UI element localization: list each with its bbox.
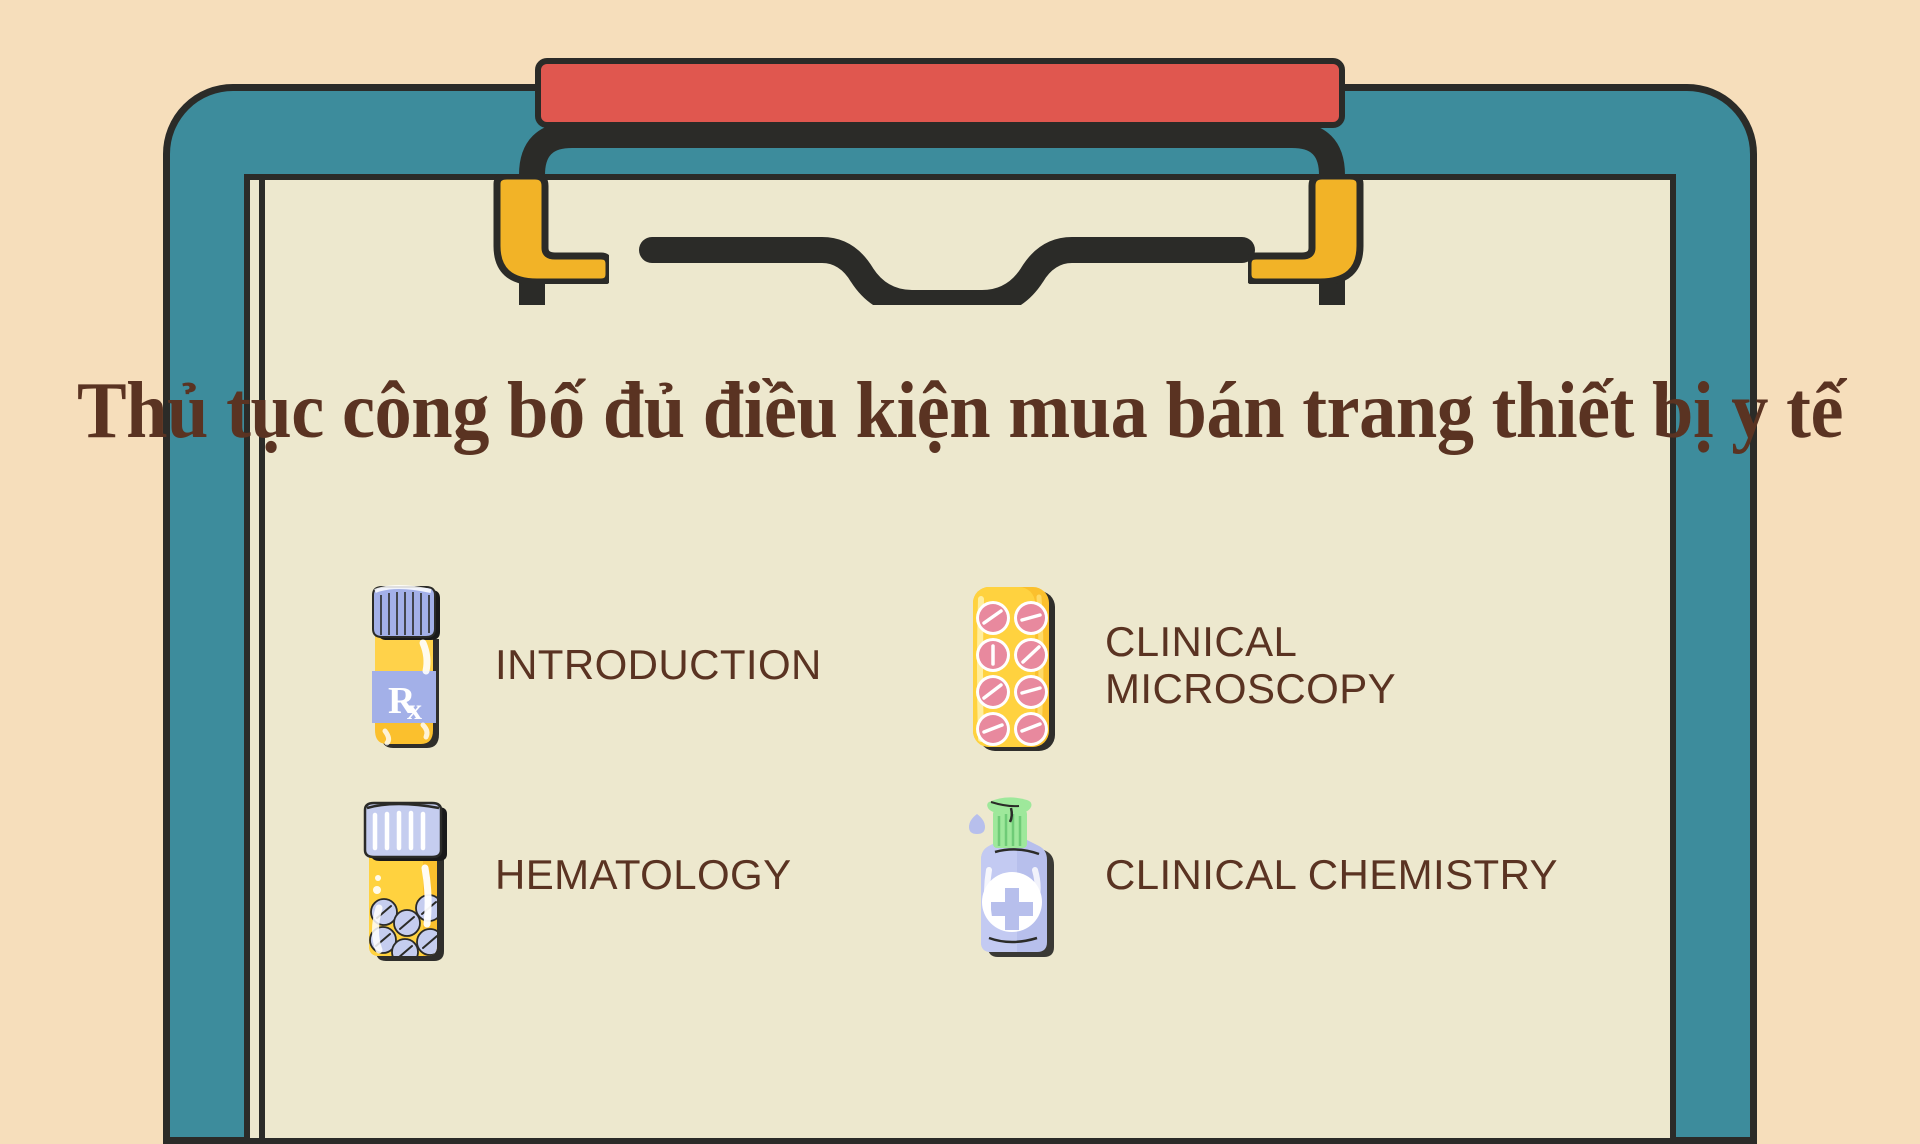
svg-text:x: x bbox=[407, 693, 422, 726]
clip-top-bar bbox=[535, 58, 1345, 128]
clip-bracket-left-icon bbox=[489, 174, 609, 284]
menu-item-introduction[interactable]: R x INTRODUCTION bbox=[345, 560, 955, 770]
hand-sanitizer-bottle-icon bbox=[955, 790, 1073, 960]
clip-bracket-right-icon bbox=[1248, 174, 1368, 284]
pill-bottle-icon bbox=[345, 790, 463, 960]
menu-item-label: CLINICAL CHEMISTRY bbox=[1105, 851, 1558, 898]
menu-item-label: INTRODUCTION bbox=[495, 641, 822, 688]
menu-list: R x INTRODUCTION bbox=[345, 560, 1645, 980]
rx-medicine-bottle-icon: R x bbox=[345, 573, 463, 758]
pill-blister-pack-icon bbox=[955, 573, 1073, 758]
menu-item-hematology[interactable]: HEMATOLOGY bbox=[345, 770, 955, 980]
menu-item-label: CLINICAL MICROSCOPY bbox=[1105, 618, 1396, 712]
menu-item-clinical-chemistry[interactable]: CLINICAL CHEMISTRY bbox=[955, 770, 1645, 980]
menu-item-clinical-microscopy[interactable]: CLINICAL MICROSCOPY bbox=[955, 560, 1645, 770]
slide-canvas: Thủ tục công bố đủ điều kiện mua bán tra… bbox=[0, 0, 1920, 1080]
page-title: Thủ tục công bố đủ điều kiện mua bán tra… bbox=[67, 372, 1853, 450]
menu-item-label: HEMATOLOGY bbox=[495, 851, 792, 898]
